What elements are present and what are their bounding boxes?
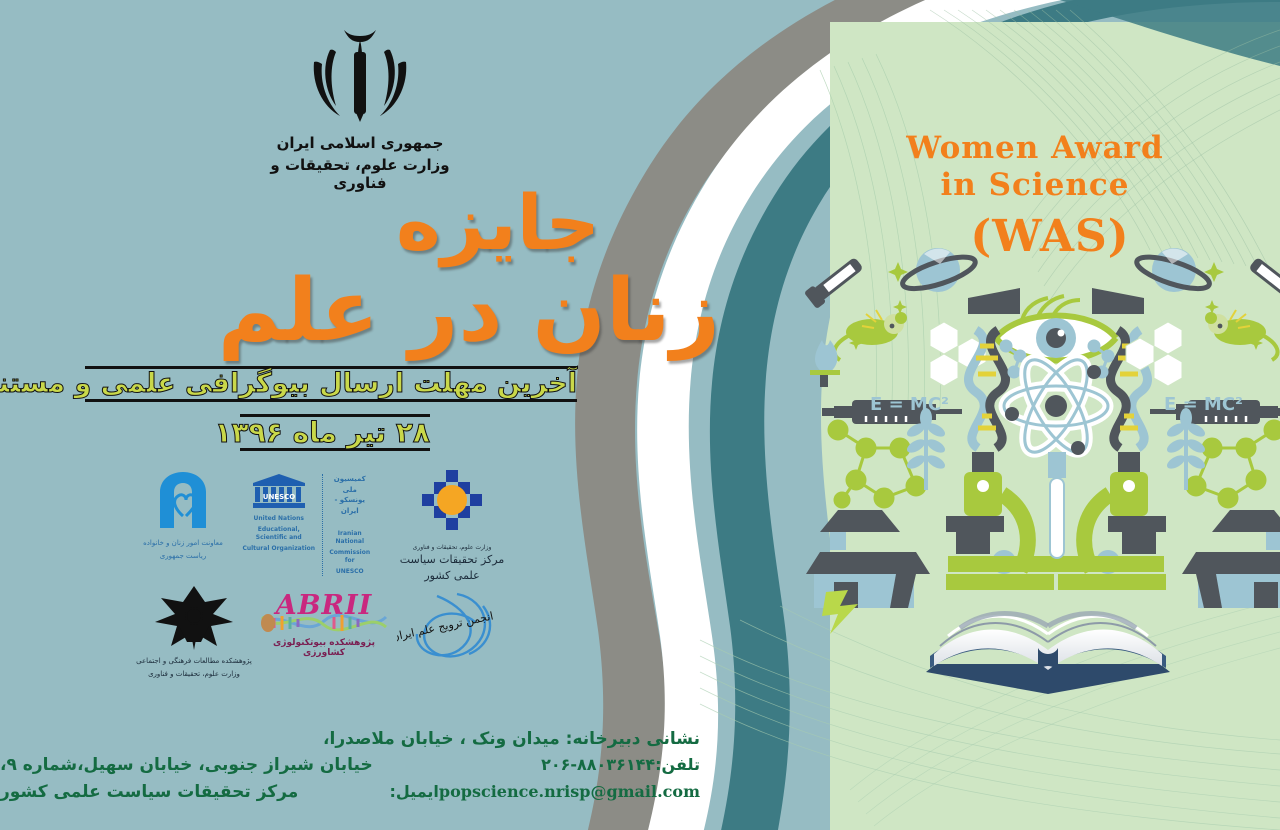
unesco-en-line-3: Cultural Organization — [242, 545, 316, 553]
logo-caption-line-1: معاونت امور زنان و خانواده — [130, 538, 236, 549]
unesco-wordmark: UNESCO — [263, 493, 296, 501]
emblem-line-1: جمهوری اسلامی ایران — [250, 134, 470, 152]
english-title-line-2: in Science — [855, 167, 1215, 204]
unesco-en-line-2: Educational, Scientific and — [242, 526, 316, 542]
cultural-social-studies-institute-logo: پژوهشکده مطالعات فرهنگی و اجتماعی وزارت … — [134, 586, 254, 679]
email-entry[interactable]: popscience.nrisp@gmail.comایمیل: — [365, 782, 700, 801]
deadline-text: آخرین مهلت ارسال بیوگرافی علمی و مستندات — [85, 366, 577, 402]
emc2-formula: E = MC² — [1164, 394, 1243, 415]
sponsor-logo-grid: معاونت امور زنان و خانواده ریاست جمهوری … — [130, 468, 550, 708]
emc2-formula: E = MC² — [870, 394, 949, 415]
logo-caption-line-2: وزارت علوم، تحقیقات و فناوری — [134, 669, 254, 680]
phone-label: تلفن: — [655, 755, 700, 774]
logo-caption-line-1: پژوهشکده مطالعات فرهنگی و اجتماعی — [134, 656, 254, 667]
english-title-line-1: Women Award — [855, 130, 1215, 167]
abrii-wordmark: ABRII — [260, 592, 388, 619]
email-label: ایمیل: — [389, 782, 438, 801]
deadline-date-text: ۲۸ تیر ماه ۱۳۹۶ — [240, 414, 430, 451]
logo-caption-line-2: مرکز تحقیقات سیاست علمی کشور — [392, 552, 512, 583]
nrisp-logo: وزارت علوم، تحقیقات و فناوری مرکز تحقیقا… — [392, 468, 512, 583]
blue-swirl-atom-icon: انجمن ترویج علم ایران — [397, 590, 507, 660]
deadline-banner: آخرین مهلت ارسال بیوگرافی علمی و مستندات — [85, 366, 577, 402]
unesco-fa-line-1: کمیسیون ملی — [328, 474, 373, 495]
persian-title-line-2: زنان در علم — [218, 268, 720, 354]
unesco-inc-line-2: Commission for — [328, 549, 373, 565]
science-promotion-association-logo: انجمن ترویج علم ایران — [392, 590, 512, 664]
unesco-inc-line-1: Iranian National — [328, 530, 373, 546]
contact-block: نشانی دبیرخانه: میدان ونک ، خیابان ملاصد… — [0, 726, 700, 805]
deadline-date-banner: ۲۸ تیر ماه ۱۳۹۶ — [240, 414, 430, 451]
abrii-logo: ABRII پژوهشکده بیوتکنولوژی کشاورزی — [260, 592, 388, 658]
phone-value: ۸۸۰۳۶۱۴۴-۲۰۶ — [541, 755, 655, 774]
english-title: Women Award in Science — [855, 130, 1215, 203]
unesco-fa-line-2: یونسکو - ایران — [328, 495, 373, 516]
persian-title-line-1: جایزه — [396, 185, 600, 261]
unesco-inc-line-3: UNESCO — [328, 568, 373, 576]
email-value[interactable]: popscience.nrisp@gmail.com — [439, 782, 700, 801]
address-line-2: خیابان شیراز جنوبی، خیابان سهیل،شماره ۹، — [0, 752, 373, 778]
test-tube-icon — [1048, 452, 1066, 558]
address-line-3: مرکز تحقیقات سیاست علمی کشور — [0, 779, 298, 805]
unesco-logo: UNESCO United Nations Educational, Scien… — [242, 474, 372, 576]
phone-entry: تلفن:۸۸۰۳۶۱۴۴-۲۰۶ — [517, 755, 700, 774]
logo-caption-line-2: ریاست جمهوری — [130, 551, 236, 562]
address-line-1: نشانی دبیرخانه: میدان ونک ، خیابان ملاصد… — [0, 726, 700, 752]
abrii-caption: پژوهشکده بیوتکنولوژی کشاورزی — [260, 638, 388, 658]
arch-heart-icon — [152, 468, 214, 532]
english-acronym: (WAS) — [880, 215, 1220, 259]
womens-family-affairs-logo: معاونت امور زنان و خانواده ریاست جمهوری — [130, 468, 236, 561]
diamond-pixel-sun-icon — [413, 468, 491, 540]
iran-national-emblem-icon — [300, 22, 420, 132]
unesco-temple-icon: UNESCO — [253, 474, 305, 508]
poster-canvas: E = MC² — [0, 0, 1280, 830]
black-star-figure-icon — [155, 586, 233, 650]
logo-caption-line-1: وزارت علوم، تحقیقات و فناوری — [392, 544, 512, 552]
unesco-en-line-1: United Nations — [242, 515, 316, 523]
